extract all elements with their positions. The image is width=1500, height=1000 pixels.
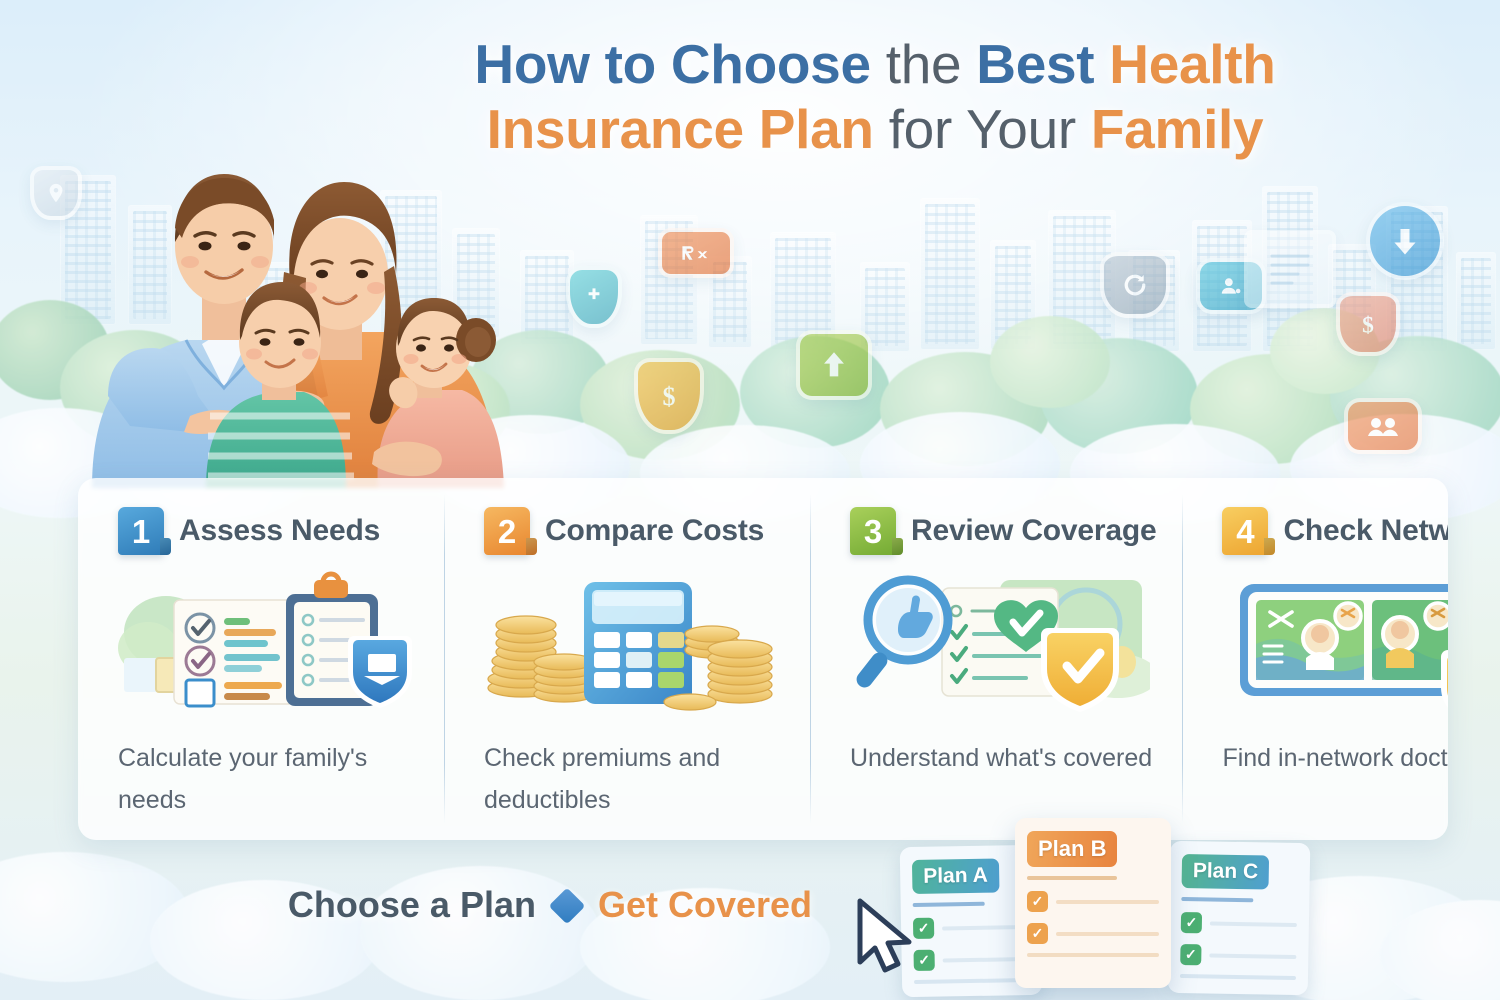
step-title-1: Assess Needs [179,514,380,548]
title-word-best: Best [976,33,1094,95]
plan-c-row-line [1210,921,1297,927]
step-description-3: Understand what's covered [850,738,1156,780]
step-description-1: Calculate your family's needs [118,738,418,821]
plan-a-check-row-2: ✓ [913,948,1029,971]
upload-arrow-icon [796,330,872,400]
cta-left-text: Choose a Plan [288,884,536,925]
infographic-canvas: $ $ [0,0,1500,1000]
step-number-3: 3 [864,515,882,548]
check-icon: ✓ [1027,891,1048,912]
call-to-action: Choose a PlanGet Covered [150,884,950,926]
step-number-badge-4: 4 [1222,507,1268,555]
step-description-4: Find in-network doctors [1222,738,1448,780]
plan-card-b[interactable]: Plan B ✓ ✓ [1015,818,1171,988]
step-header: 4 Check Networks [1222,504,1448,558]
plan-b-check-row-2: ✓ [1027,923,1159,944]
mouse-cursor [855,898,917,976]
step-title-2: Compare Costs [545,514,764,548]
svg-text:$: $ [1362,313,1374,339]
plan-card-c[interactable]: Plan C ✓ ✓ [1168,841,1311,995]
step-header: 3 Review Coverage [850,504,1156,558]
cta-right-text: Get Covered [598,884,812,925]
plan-b-line [1027,876,1117,880]
title-word-health: Health [1109,33,1275,95]
plan-b-footer-line [1027,953,1159,957]
plan-c-row-line [1209,953,1296,959]
droplet-icon: ✓ [1027,923,1048,944]
plan-c-line [1181,897,1253,902]
svg-text:$: $ [662,382,675,411]
title-line-2: Insurance Plan for Your Family [360,97,1390,162]
steps-panel: 1 Assess Needs [78,478,1448,840]
title-word-family: Family [1091,98,1263,160]
step-description-2: Check premiums and deductibles [484,738,784,821]
plan-a-check-row-1: ✓ [913,916,1029,939]
dollar-badge-icon: $ [1336,292,1400,356]
plan-c-check-row-1: ✓ [1181,912,1297,935]
step-card-review-coverage[interactable]: 3 Review Coverage [810,478,1182,840]
prescription-rx-bubble-icon [658,228,734,278]
title-word-for-your: for Your [889,98,1076,160]
calculator-coins-illustration [484,566,784,716]
refresh-badge-icon [1100,252,1170,318]
plan-a-footer-line [914,978,1030,984]
step-number-4: 4 [1236,515,1254,548]
plan-b-label: Plan B [1027,831,1117,867]
step-number-badge-3: 3 [850,507,896,555]
step-number-1: 1 [132,515,150,548]
download-arrow-icon [1366,202,1444,280]
medical-shield-icon [566,266,622,328]
plan-c-label: Plan C [1182,854,1270,890]
title-word-the: the [886,33,962,95]
checklist-clipboard-illustration [118,566,418,716]
dollar-shield-icon: $ [634,358,704,434]
step-card-assess-needs[interactable]: 1 Assess Needs [78,478,444,840]
step-card-compare-costs[interactable]: 2 Compare Costs [444,478,810,840]
step-title-3: Review Coverage [911,514,1156,548]
location-pin-icon [30,166,82,220]
step-header: 1 Assess Needs [118,504,418,558]
plan-b-row-line [1056,932,1159,936]
plan-b-check-row-1: ✓ [1027,891,1159,912]
title-word-how-to-choose: How to Choose [474,33,870,95]
plan-a-line [913,902,985,907]
plan-c-check-row-2: ✓ [1180,944,1296,967]
page-title: How to Choose the Best Health Insurance … [360,32,1390,162]
step-title-4: Check Networks [1283,514,1448,548]
doctor-network-map-illustration [1222,566,1448,716]
title-line-1: How to Choose the Best Health [360,32,1390,97]
plan-b-row-line [1056,900,1159,904]
plan-cards-group: Plan A ✓ ✓ Plan C ✓ ✓ [895,818,1315,1000]
document-sheet-icon [1244,230,1336,308]
plan-a-label: Plan A [912,859,999,895]
family-care-card-icon [1344,398,1422,454]
check-icon: ✓ [1181,912,1202,933]
plan-c-footer-line [1180,974,1296,980]
check-icon: ✓ [1180,944,1201,965]
step-number-badge-2: 2 [484,507,530,555]
title-word-insurance-plan: Insurance Plan [487,98,874,160]
step-number-2: 2 [498,515,516,548]
step-card-check-networks[interactable]: 4 Check Networks [1182,478,1448,840]
diamond-separator-icon [549,888,586,925]
step-header: 2 Compare Costs [484,504,784,558]
magnifier-document-shield-illustration [850,566,1156,716]
step-number-badge-1: 1 [118,507,164,555]
